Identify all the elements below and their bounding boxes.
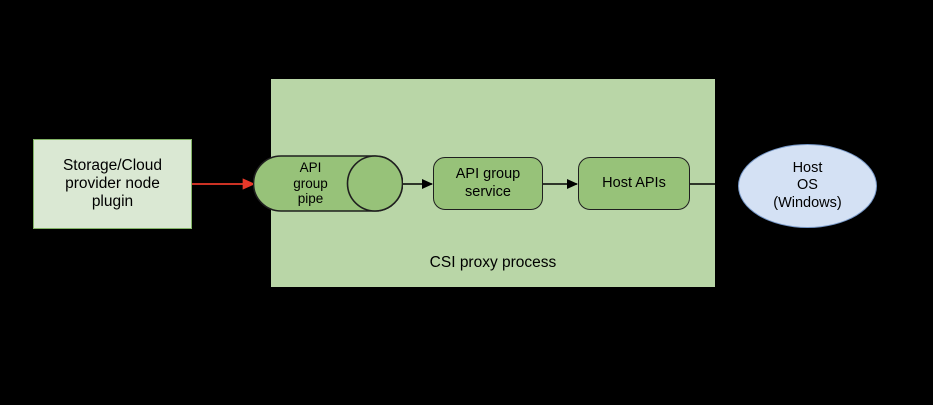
host-os-ellipse [738,144,877,228]
storage-cloud-provider-node-plugin-box [33,139,192,229]
api-group-pipe-shape [253,155,403,212]
host-apis-box [578,157,690,210]
api-group-service-box [433,157,543,210]
diagram-canvas: CSI proxy process Storage/Cloud provider… [0,0,933,405]
